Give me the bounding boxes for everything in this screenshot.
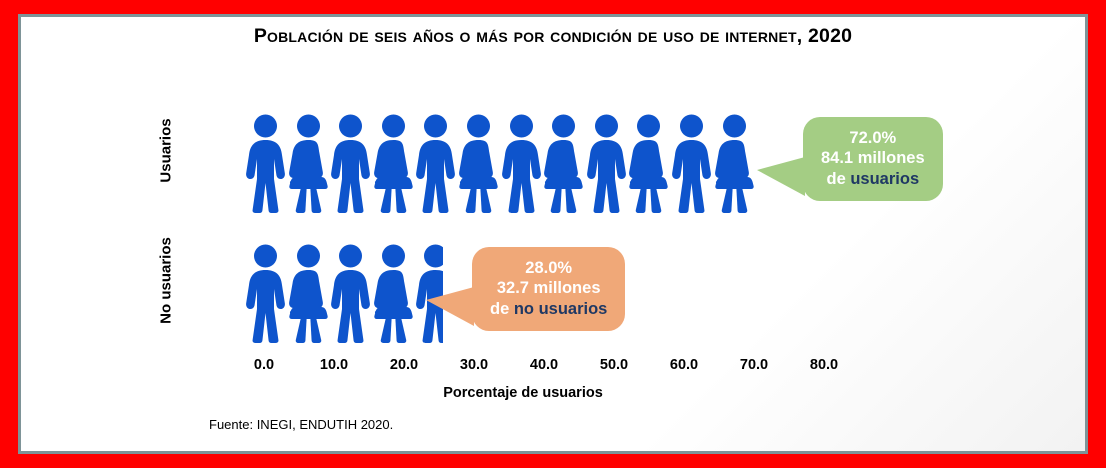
x-tick-40: 40.0 xyxy=(514,357,574,373)
person-icon-male xyxy=(499,113,544,213)
x-tick-30: 30.0 xyxy=(444,357,504,373)
person-icon-male xyxy=(328,243,373,343)
x-tick-10: 10.0 xyxy=(304,357,364,373)
x-tick-80: 80.0 xyxy=(794,357,854,373)
person-icon-female xyxy=(626,113,671,213)
callout-usuarios: 72.0% 84.1 millones de usuarios xyxy=(803,117,943,201)
callout-green-millions: 84.1 millones xyxy=(821,148,925,168)
chart-canvas: Gráfica 1 Población de seis años o más p… xyxy=(21,17,1085,451)
callout-green-highlight: usuarios xyxy=(850,170,919,188)
person-icon-male xyxy=(243,113,288,213)
person-icon-male xyxy=(669,113,714,213)
callout-green-percent: 72.0% xyxy=(821,128,925,148)
person-icon-female xyxy=(712,113,757,213)
callout-orange-millions: 32.7 millones xyxy=(490,278,607,298)
person-icon-male xyxy=(243,243,288,343)
x-tick-60: 60.0 xyxy=(654,357,714,373)
category-label-no-usuarios: No usuarios xyxy=(158,221,175,341)
callout-green-line3: de usuarios xyxy=(821,169,925,189)
callout-orange-line3: de no usuarios xyxy=(490,299,607,319)
person-icon-male xyxy=(413,113,458,213)
person-icon-female xyxy=(371,113,416,213)
person-icon-female xyxy=(456,113,501,213)
callout-green-prefix: de xyxy=(827,170,851,188)
x-tick-20: 20.0 xyxy=(374,357,434,373)
callout-tail-orange xyxy=(426,287,474,326)
person-icon-female xyxy=(371,243,416,343)
x-tick-50: 50.0 xyxy=(584,357,644,373)
x-axis-ticks: 0.010.020.030.040.050.060.070.080.0 xyxy=(21,357,1085,381)
category-label-usuarios: Usuarios xyxy=(158,91,175,211)
pictogram-row-usuarios xyxy=(243,113,803,213)
person-icon-female xyxy=(541,113,586,213)
callout-tail-green xyxy=(757,157,805,196)
red-frame: Gráfica 1 Población de seis años o más p… xyxy=(0,0,1106,468)
callout-orange-prefix: de xyxy=(490,300,514,318)
x-axis-title: Porcentaje de usuarios xyxy=(243,385,803,401)
callout-orange-highlight: no usuarios xyxy=(514,300,608,318)
callout-orange-percent: 28.0% xyxy=(490,258,607,278)
x-tick-70: 70.0 xyxy=(724,357,784,373)
person-icon-female xyxy=(286,243,331,343)
person-icon-female xyxy=(286,113,331,213)
plot-area: Usuarios No usuarios 72.0% 84.1 millones… xyxy=(21,17,1085,451)
source-note: Fuente: INEGI, ENDUTIH 2020. xyxy=(209,417,393,432)
callout-no-usuarios: 28.0% 32.7 millones de no usuarios xyxy=(472,247,625,331)
person-icon-male xyxy=(584,113,629,213)
person-icon-male xyxy=(328,113,373,213)
x-tick-0: 0.0 xyxy=(234,357,294,373)
